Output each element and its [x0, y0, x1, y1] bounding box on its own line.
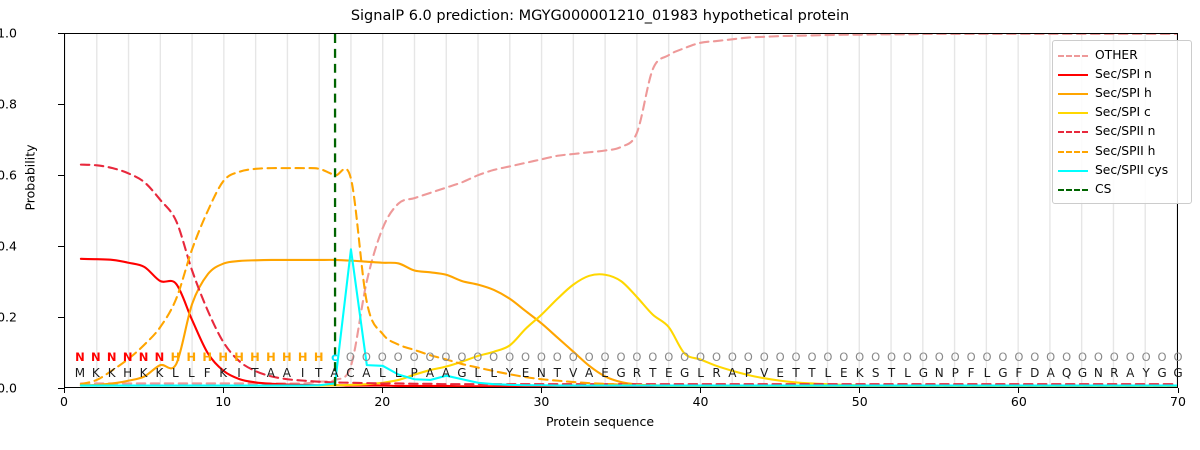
region-marker: O [680, 349, 689, 365]
sequence-residue: G [616, 365, 625, 381]
sequence-residue: A [442, 365, 450, 381]
sequence-residue: L [395, 365, 402, 381]
region-marker: N [107, 349, 117, 365]
region-marker: O [585, 349, 594, 365]
sequence-residue: L [490, 365, 497, 381]
legend-item[interactable]: Sec/SPI c [1058, 103, 1186, 122]
sequence-residue: K [219, 365, 227, 381]
region-marker: O [1030, 349, 1039, 365]
legend-swatch-icon [1058, 106, 1088, 118]
legend-item[interactable]: OTHER [1058, 45, 1186, 64]
region-marker: H [314, 349, 324, 365]
sequence-residue: A [585, 365, 593, 381]
region-marker: O [553, 349, 562, 365]
region-marker: O [1094, 349, 1103, 365]
region-marker: O [521, 349, 530, 365]
sequence-residue: T [315, 365, 322, 381]
sequence-residue: A [728, 365, 736, 381]
region-marker: H [282, 349, 292, 365]
sequence-residue: A [330, 365, 338, 381]
sequence-residue: L [984, 365, 991, 381]
sequence-residue: A [1047, 365, 1055, 381]
region-marker: O [362, 349, 371, 365]
region-marker: H [298, 349, 308, 365]
y-tick-label: 0.6 [0, 168, 17, 183]
x-tick-label: 70 [1170, 394, 1186, 409]
legend-swatch-icon [1058, 49, 1088, 61]
sequence-residue: R [633, 365, 641, 381]
sequence-residue: G [457, 365, 466, 381]
sequence-residue: N [935, 365, 944, 381]
sequence-residue: L [825, 365, 832, 381]
sequence-residue: K [856, 365, 864, 381]
x-tick-mark [1018, 388, 1019, 393]
region-marker: O [919, 349, 928, 365]
legend-label: Sec/SPII n [1095, 125, 1155, 137]
legend-item[interactable]: CS [1058, 179, 1186, 198]
plot-area [64, 33, 1178, 388]
region-marker: O [616, 349, 625, 365]
x-tick-mark [382, 388, 383, 393]
sequence-residue: H [123, 365, 132, 381]
legend-label: Sec/SPI c [1095, 106, 1151, 118]
region-marker: O [537, 349, 546, 365]
sequence-residue: A [1126, 365, 1134, 381]
sequence-residue: L [188, 365, 195, 381]
legend-swatch-icon [1058, 125, 1088, 137]
x-tick-label: 10 [215, 394, 231, 409]
region-marker: O [441, 349, 450, 365]
sequence-residue: G [1157, 365, 1166, 381]
x-tick-mark [541, 388, 542, 393]
sequence-residue: L [697, 365, 704, 381]
sequence-residue: P [745, 365, 752, 381]
legend-item[interactable]: Sec/SPII cys [1058, 160, 1186, 179]
region-marker: O [601, 349, 610, 365]
x-tick-mark [64, 388, 65, 393]
region-marker: O [887, 349, 896, 365]
sequence-residue: E [601, 365, 609, 381]
sequence-residue: C [346, 365, 354, 381]
sequence-residue: N [1094, 365, 1103, 381]
region-marker: O [489, 349, 498, 365]
region-marker: O [951, 349, 960, 365]
region-marker: O [410, 349, 419, 365]
y-tick-label: 0.0 [0, 381, 17, 396]
sequence-residue: G [1173, 365, 1182, 381]
sequence-residue: V [569, 365, 577, 381]
region-marker: O [473, 349, 482, 365]
region-marker: O [696, 349, 705, 365]
legend-swatch-icon [1058, 68, 1088, 80]
x-tick-mark [223, 388, 224, 393]
sequence-residue: L [474, 365, 481, 381]
region-marker: H [202, 349, 212, 365]
sequence-residue: I [237, 365, 241, 381]
x-tick-label: 30 [533, 394, 549, 409]
region-marker: N [123, 349, 133, 365]
region-marker: H [187, 349, 197, 365]
legend-swatch-icon [1058, 87, 1088, 99]
sequence-residue: L [379, 365, 386, 381]
region-marker: O [903, 349, 912, 365]
region-marker: H [218, 349, 228, 365]
sequence-residue: A [267, 365, 275, 381]
region-marker: N [155, 349, 165, 365]
region-annotation-row: NNNNNNHHHHHHHHHHcOOOOOOOOOOOOOOOOOOOOOOO… [64, 349, 1178, 365]
legend-label: OTHER [1095, 49, 1138, 61]
region-marker: O [1126, 349, 1135, 365]
sequence-residue: G [998, 365, 1007, 381]
protein-sequence-row: MKKHKKLLFKITAAITACALLPAAGLLYENTVAEGRTEGL… [64, 365, 1178, 381]
sequence-residue: D [1030, 365, 1039, 381]
region-marker: H [234, 349, 244, 365]
region-marker: O [760, 349, 769, 365]
sequence-residue: F [968, 365, 975, 381]
x-tick-mark [1178, 388, 1179, 393]
x-tick-mark [700, 388, 701, 393]
region-marker: O [1142, 349, 1151, 365]
sequence-residue: T [888, 365, 895, 381]
legend-swatch-icon [1058, 183, 1088, 195]
x-tick-label: 0 [60, 394, 68, 409]
sequence-residue: K [140, 365, 148, 381]
region-marker: O [839, 349, 848, 365]
sequence-residue: G [680, 365, 689, 381]
region-marker: O [632, 349, 641, 365]
legend-label: Sec/SPI n [1095, 68, 1152, 80]
legend-swatch-icon [1058, 164, 1088, 176]
sequence-residue: P [952, 365, 959, 381]
region-marker: H [171, 349, 181, 365]
region-marker: O [569, 349, 578, 365]
sequence-residue: A [283, 365, 291, 381]
region-marker: O [505, 349, 514, 365]
region-marker: O [1110, 349, 1119, 365]
sequence-residue: Y [1142, 365, 1149, 381]
region-marker: O [425, 349, 434, 365]
sequence-residue: A [362, 365, 370, 381]
data-curves [65, 34, 1177, 387]
sequence-residue: M [75, 365, 85, 381]
region-marker: N [91, 349, 101, 365]
sequence-residue: E [840, 365, 848, 381]
sequence-residue: T [251, 365, 258, 381]
sequence-residue: G [1078, 365, 1087, 381]
region-marker: O [394, 349, 403, 365]
sequence-residue: Y [506, 365, 513, 381]
sequence-residue: K [108, 365, 116, 381]
region-marker: O [457, 349, 466, 365]
sequence-residue: K [156, 365, 164, 381]
region-marker: O [744, 349, 753, 365]
sequence-residue: T [808, 365, 815, 381]
sequence-residue: E [776, 365, 784, 381]
legend-label: Sec/SPII cys [1095, 164, 1168, 176]
region-marker: O [776, 349, 785, 365]
y-tick-label: 1.0 [0, 26, 17, 41]
sequence-residue: E [522, 365, 530, 381]
region-marker: O [855, 349, 864, 365]
sequence-residue: T [649, 365, 656, 381]
region-marker: c [331, 349, 338, 365]
region-marker: H [250, 349, 260, 365]
region-marker: O [792, 349, 801, 365]
region-marker: O [982, 349, 991, 365]
region-marker: O [1158, 349, 1167, 365]
sequence-residue: L [172, 365, 179, 381]
legend[interactable]: OTHERSec/SPI nSec/SPI hSec/SPI cSec/SPII… [1052, 40, 1192, 204]
region-marker: N [139, 349, 149, 365]
sequence-residue: Q [1062, 365, 1071, 381]
sequence-residue: F [1015, 365, 1022, 381]
x-tick-label: 40 [693, 394, 709, 409]
region-marker: O [712, 349, 721, 365]
region-marker: O [346, 349, 355, 365]
region-marker: O [664, 349, 673, 365]
sequence-residue: A [426, 365, 434, 381]
sequence-residue: N [537, 365, 546, 381]
region-marker: O [935, 349, 944, 365]
region-marker: O [648, 349, 657, 365]
region-marker: H [266, 349, 276, 365]
sequence-residue: K [92, 365, 100, 381]
series-other [81, 34, 1177, 384]
x-tick-label: 60 [1011, 394, 1027, 409]
sequence-residue: T [792, 365, 799, 381]
sequence-residue: G [919, 365, 928, 381]
legend-item[interactable]: Sec/SPI h [1058, 83, 1186, 102]
sequence-residue: L [904, 365, 911, 381]
region-marker: O [823, 349, 832, 365]
x-axis-label: Protein sequence [0, 414, 1200, 429]
region-marker: O [1173, 349, 1182, 365]
x-tick-mark [859, 388, 860, 393]
sequence-residue: P [410, 365, 417, 381]
region-marker: O [1062, 349, 1071, 365]
legend-item[interactable]: Sec/SPII h [1058, 141, 1186, 160]
y-tick-label: 0.2 [0, 310, 17, 325]
region-marker: O [1078, 349, 1087, 365]
sequence-residue: V [760, 365, 768, 381]
sequence-residue: S [872, 365, 880, 381]
region-marker: O [871, 349, 880, 365]
legend-item[interactable]: Sec/SPII n [1058, 122, 1186, 141]
sequence-residue: E [665, 365, 673, 381]
region-marker: N [75, 349, 85, 365]
region-marker: O [967, 349, 976, 365]
legend-label: Sec/SPI h [1095, 87, 1152, 99]
sequence-residue: R [712, 365, 720, 381]
legend-label: CS [1095, 183, 1111, 195]
y-axis-label: Probability [23, 88, 38, 268]
sequence-residue: F [204, 365, 211, 381]
x-tick-label: 50 [852, 394, 868, 409]
sequence-residue: I [301, 365, 305, 381]
sequence-residue: R [1110, 365, 1118, 381]
legend-label: Sec/SPII h [1095, 145, 1155, 157]
region-marker: O [1046, 349, 1055, 365]
y-tick-label: 0.4 [0, 239, 17, 254]
signalp-prediction-figure: SignalP 6.0 prediction: MGYG000001210_01… [0, 0, 1200, 450]
region-marker: O [807, 349, 816, 365]
y-tick-label: 0.8 [0, 97, 17, 112]
region-marker: O [728, 349, 737, 365]
legend-swatch-icon [1058, 145, 1088, 157]
x-tick-label: 20 [374, 394, 390, 409]
figure-title: SignalP 6.0 prediction: MGYG000001210_01… [0, 8, 1200, 24]
region-marker: O [998, 349, 1007, 365]
legend-item[interactable]: Sec/SPI n [1058, 64, 1186, 83]
region-marker: O [378, 349, 387, 365]
region-marker: O [1014, 349, 1023, 365]
sequence-residue: T [554, 365, 561, 381]
